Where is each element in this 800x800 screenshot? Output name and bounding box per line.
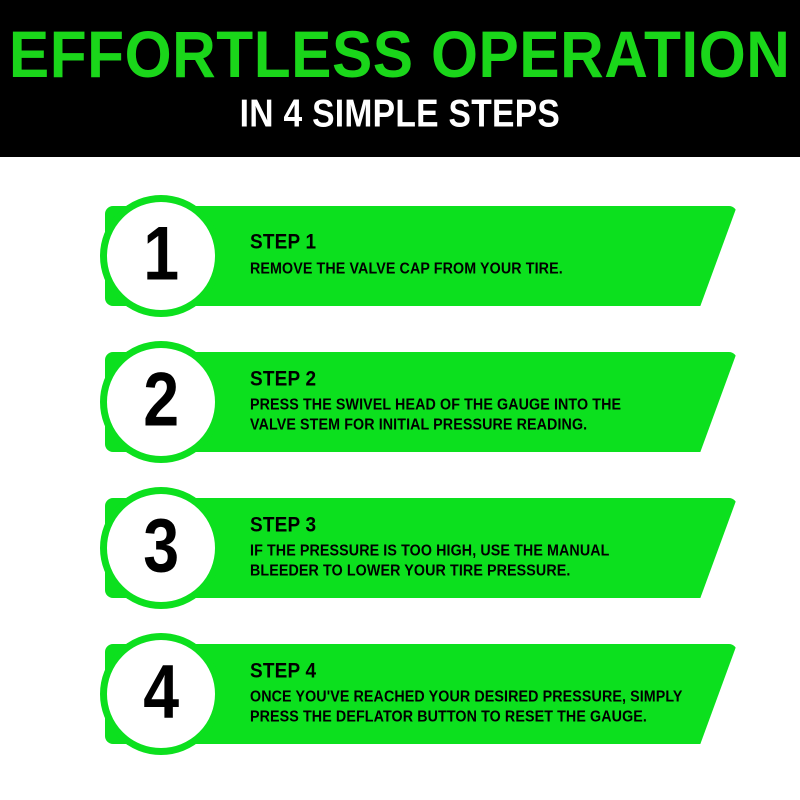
step-description: PRESS THE SWIVEL HEAD OF THE GAUGE INTO … <box>250 395 713 435</box>
step-description: REMOVE THE VALVE CAP FROM YOUR TIRE. <box>250 259 713 279</box>
step-number-badge: 1 <box>100 195 222 317</box>
step-number-label: 1 <box>143 217 179 293</box>
infographic-poster: EFFORTLESS OPERATION IN 4 SIMPLE STEPS 1… <box>0 0 800 800</box>
page-subtitle: IN 4 SIMPLE STEPS <box>240 93 560 132</box>
step-item: 2 STEP 2 PRESS THE SWIVEL HEAD OF THE GA… <box>0 341 800 463</box>
step-text-block: STEP 4 ONCE YOU'VE REACHED YOUR DESIRED … <box>250 633 720 755</box>
step-number-label: 4 <box>143 655 179 731</box>
step-number-label: 3 <box>143 509 179 585</box>
step-item: 3 STEP 3 IF THE PRESSURE IS TOO HIGH, US… <box>0 487 800 609</box>
step-item: 1 STEP 1 REMOVE THE VALVE CAP FROM YOUR … <box>0 195 800 317</box>
step-number-badge: 2 <box>100 341 222 463</box>
step-heading: STEP 1 <box>250 232 720 254</box>
header-banner: EFFORTLESS OPERATION IN 4 SIMPLE STEPS <box>0 0 800 157</box>
step-item: 4 STEP 4 ONCE YOU'VE REACHED YOUR DESIRE… <box>0 633 800 755</box>
step-description: IF THE PRESSURE IS TOO HIGH, USE THE MAN… <box>250 541 713 581</box>
step-text-block: STEP 3 IF THE PRESSURE IS TOO HIGH, USE … <box>250 487 720 609</box>
steps-list: 1 STEP 1 REMOVE THE VALVE CAP FROM YOUR … <box>0 157 800 800</box>
step-number-badge: 4 <box>100 633 222 755</box>
step-heading: STEP 3 <box>250 515 720 537</box>
step-heading: STEP 2 <box>250 369 720 391</box>
step-text-block: STEP 1 REMOVE THE VALVE CAP FROM YOUR TI… <box>250 195 720 317</box>
page-title: EFFORTLESS OPERATION <box>9 22 791 88</box>
step-text-block: STEP 2 PRESS THE SWIVEL HEAD OF THE GAUG… <box>250 341 720 463</box>
step-description: ONCE YOU'VE REACHED YOUR DESIRED PRESSUR… <box>250 687 713 727</box>
step-heading: STEP 4 <box>250 661 720 683</box>
step-number-badge: 3 <box>100 487 222 609</box>
step-number-label: 2 <box>143 363 179 439</box>
